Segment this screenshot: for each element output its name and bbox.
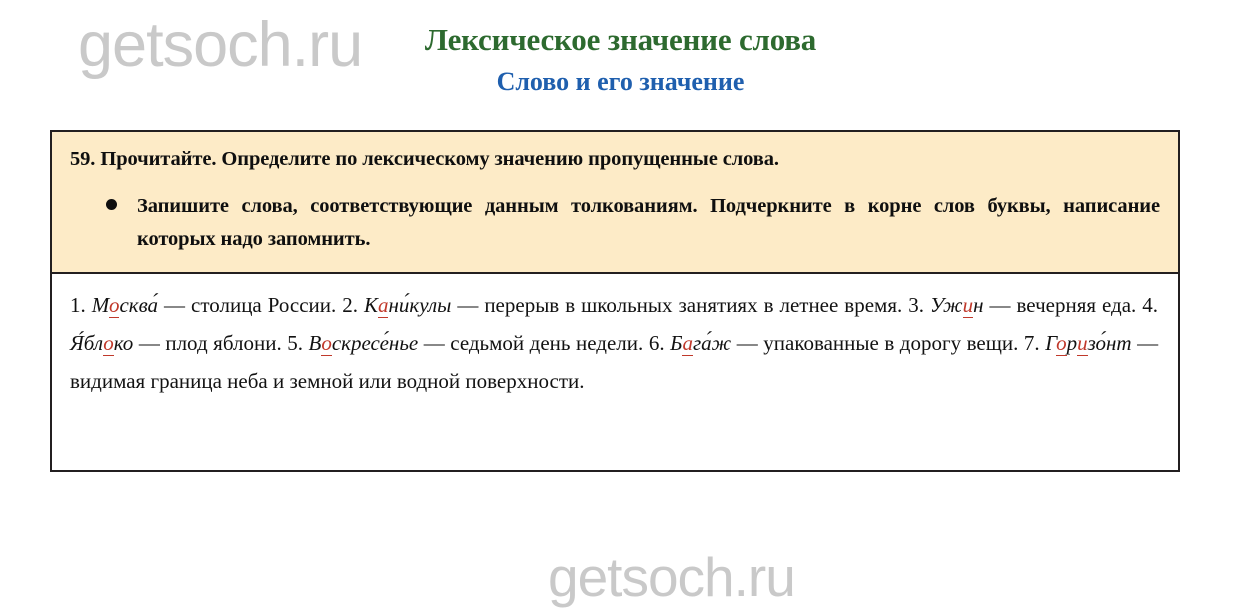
answer-item-definition: перерыв в школьных занятиях в летнее вре… <box>484 293 902 317</box>
page-subtitle: Слово и его значение <box>0 58 1241 97</box>
task-lead-text: 59. Прочитайте. Определите по лексическо… <box>70 146 1160 173</box>
highlighted-letter: о <box>109 293 120 318</box>
task-panel: 59. Прочитайте. Определите по лексическо… <box>52 132 1178 274</box>
highlighted-letter: и <box>1077 331 1088 356</box>
answer-item-word: Горизо́нт <box>1045 331 1131 356</box>
answer-item-word: Москва́ <box>92 293 158 318</box>
task-bullet-item: Запишите слова, соответствующие данным т… <box>70 190 1160 256</box>
answer-item-word: Бага́ж <box>670 331 731 356</box>
highlighted-letter: о <box>103 331 114 356</box>
answer-item-word: Ужин <box>930 293 984 318</box>
answer-item-word: Воскресе́нье <box>309 331 419 356</box>
highlighted-letter: и <box>963 293 974 318</box>
answer-item-number: 4. <box>1142 293 1158 317</box>
answer-item-number: 5. <box>287 331 303 355</box>
bullet-dot-icon <box>106 199 117 210</box>
watermark-bottom: getsoch.ru <box>548 545 795 609</box>
answer-item-number: 7. <box>1024 331 1040 355</box>
answer-text: 1. Москва́ — столица России. 2. Кани́кул… <box>70 286 1158 400</box>
answer-panel: 1. Москва́ — столица России. 2. Кани́кул… <box>52 274 1178 470</box>
highlighted-letter: а <box>682 331 693 356</box>
answer-item-definition: седьмой день недели. <box>450 331 643 355</box>
highlighted-letter: а <box>378 293 389 318</box>
answer-item-definition: столица России. <box>191 293 336 317</box>
answer-item-number: 1. <box>70 293 86 317</box>
answer-item-word: Я́блоко <box>70 331 133 356</box>
exercise-card: 59. Прочитайте. Определите по лексическо… <box>50 130 1180 472</box>
header-block: Лексическое значение слова Слово и его з… <box>0 0 1241 97</box>
highlighted-letter: о <box>321 331 332 356</box>
highlighted-letter: о <box>1056 331 1067 356</box>
answer-item-definition: вечерняя еда. <box>1016 293 1136 317</box>
answer-item-number: 2. <box>342 293 358 317</box>
page-title: Лексическое значение слова <box>0 0 1241 58</box>
answer-item-number: 6. <box>649 331 665 355</box>
answer-item-number: 3. <box>908 293 924 317</box>
task-bullet-text: Запишите слова, соответствующие данным т… <box>137 190 1160 256</box>
answer-item-definition: видимая граница неба и земной или водной… <box>70 369 585 393</box>
answer-item-definition: плод яблони. <box>165 331 281 355</box>
answer-item-definition: упакованные в дорогу вещи. <box>763 331 1018 355</box>
answer-item-word: Кани́кулы <box>364 293 451 318</box>
worksheet-page: { "watermarks": { "top": "getsoch.ru", "… <box>0 0 1241 601</box>
